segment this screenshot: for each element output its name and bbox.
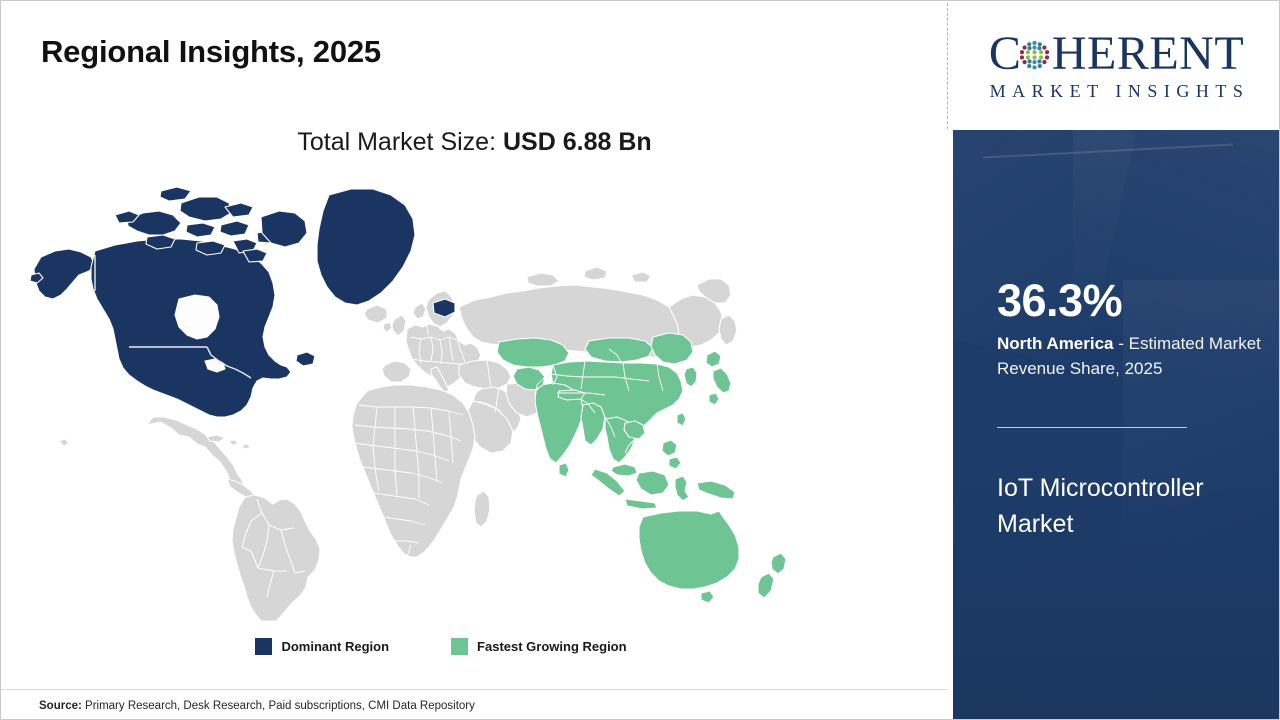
total-market-size: Total Market Size: USD 6.88 Bn [1, 128, 948, 157]
globe-dots-icon [1018, 39, 1051, 72]
stat-description: North America - Estimated Market Revenue… [997, 332, 1265, 381]
source-detail: Primary Research, Desk Research, Paid su… [82, 700, 475, 712]
legend-label-fastest-growing: Fastest Growing Region [477, 639, 627, 654]
map-legend: Dominant Region Fastest Growing Region [1, 638, 881, 655]
world-map-svg [29, 179, 829, 621]
vertical-dashed-divider [947, 3, 948, 129]
map-region-fastest-growing-asia-pacific [497, 333, 786, 603]
panel-divider-rule [997, 427, 1187, 428]
regional-insights-infographic: Regional Insights, 2025 Total Market Siz… [0, 0, 1280, 720]
legend-swatch-dominant [255, 638, 272, 655]
page-title: Regional Insights, 2025 [41, 34, 381, 70]
market-size-value: USD 6.88 Bn [503, 128, 652, 156]
source-bar: Source: Primary Research, Desk Research,… [1, 689, 948, 720]
legend-item-fastest-growing: Fastest Growing Region [451, 638, 627, 655]
legend-label-dominant: Dominant Region [281, 639, 389, 654]
stat-region-name: North America [997, 334, 1114, 353]
panel-texture-streak [983, 143, 1233, 158]
legend-swatch-fastest-growing [451, 638, 468, 655]
world-map [29, 179, 829, 621]
logo-letter-c: C [989, 30, 1021, 78]
market-size-label: Total Market Size: [297, 128, 503, 156]
logo-tagline: MARKET INSIGHTS [984, 81, 1250, 102]
source-label: Source: [39, 700, 82, 712]
legend-item-dominant: Dominant Region [255, 638, 389, 655]
brand-logo: C [953, 2, 1280, 129]
stat-value: 36.3% [997, 278, 1265, 323]
left-content-pane: Regional Insights, 2025 Total Market Siz… [1, 1, 948, 720]
logo-wordmark-row: C [989, 30, 1244, 78]
stat-block: 36.3% North America - Estimated Market R… [997, 278, 1265, 381]
market-name: IoT Microcontroller Market [997, 470, 1262, 542]
source-text: Source: Primary Research, Desk Research,… [1, 700, 475, 712]
highlight-panel: 36.3% North America - Estimated Market R… [953, 130, 1280, 720]
logo-wordmark: HERENT [1052, 30, 1244, 78]
